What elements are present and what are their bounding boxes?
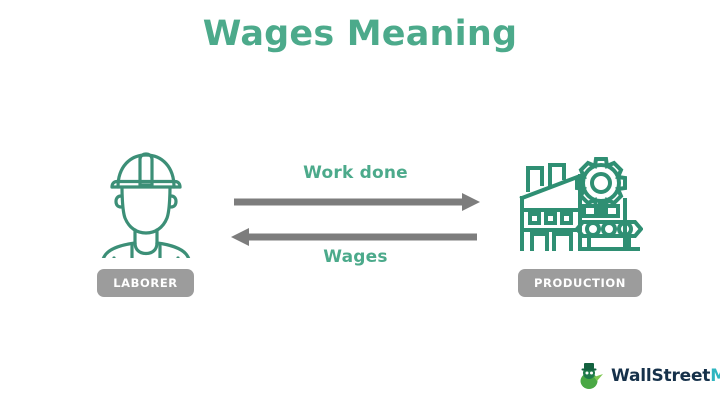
logo-wordmark-primary: WallStreet (611, 366, 710, 386)
arrow-left-wages (228, 226, 483, 248)
page-title: Wages Meaning (0, 14, 720, 54)
logo-wordmark-accent: Mojo (710, 366, 720, 386)
worker-hardhat-icon (87, 140, 205, 258)
wallstreetmojo-mascot-icon (578, 361, 604, 391)
node-production[interactable]: PRODUCTION (505, 140, 655, 297)
arrow-label-wages: Wages (228, 247, 483, 267)
diagram-canvas: Wages Meaning (0, 0, 720, 407)
arrow-label-work-done: Work done (228, 163, 483, 183)
badge-laborer: LABORER (97, 269, 194, 297)
factory-gear-conveyor-icon (517, 140, 643, 258)
exchange-arrows: Work done Wages (228, 163, 483, 278)
badge-production: PRODUCTION (518, 269, 642, 297)
wallstreetmojo-logo[interactable]: WallStreetMojo (578, 361, 720, 391)
arrow-right-work-done (228, 191, 483, 213)
logo-wordmark: WallStreetMojo (611, 366, 720, 386)
node-laborer[interactable]: LABORER (78, 140, 213, 297)
